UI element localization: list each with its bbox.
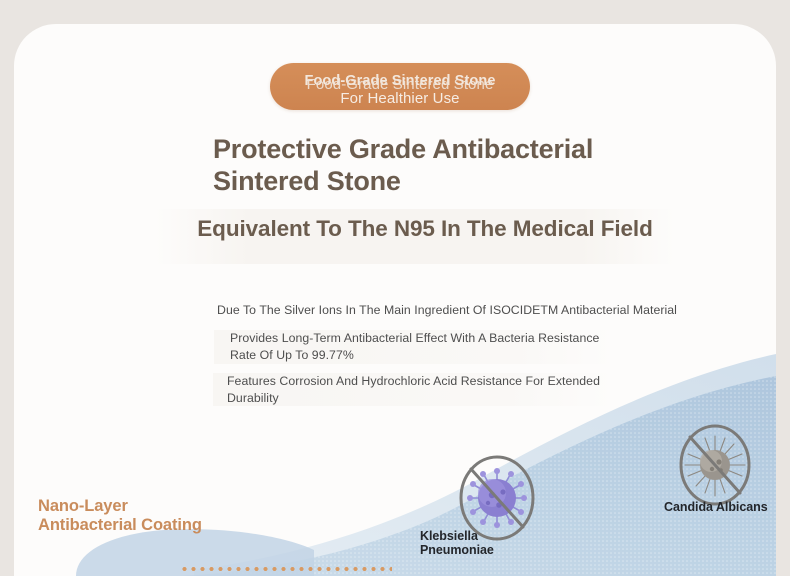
germ-blocked-icon (674, 424, 757, 507)
page-subtitle: Equivalent To The N95 In The Medical Fie… (155, 216, 695, 242)
content-card: Food-Grade Sintered Stone Food-Grade Sin… (14, 24, 776, 576)
dotted-connector (180, 566, 392, 572)
feature-list: Provides Long-Term Antibacterial Effect … (214, 330, 614, 406)
nano-layer-caption: Nano-Layer Antibacterial Coating (38, 497, 208, 536)
list-item: Provides Long-Term Antibacterial Effect … (214, 330, 614, 364)
lead-paragraph: Due To The Silver Ions In The Main Ingre… (174, 303, 720, 317)
page-title: Protective Grade Antibacterial Sintered … (213, 134, 683, 198)
germ-label-klebsiella: Klebsiella Pneumoniae (420, 529, 550, 558)
list-item: Features Corrosion And Hydrochloric Acid… (213, 373, 614, 407)
top-badge[interactable]: Food-Grade Sintered Stone Food-Grade Sin… (270, 63, 530, 110)
germ-label-candida: Candida Albicans (664, 500, 776, 514)
promo-page: Food-Grade Sintered Stone Food-Grade Sin… (0, 0, 790, 576)
badge-subline: For Healthier Use (270, 90, 530, 107)
top-badge-text: Food-Grade Sintered Stone Food-Grade Sin… (270, 63, 530, 110)
